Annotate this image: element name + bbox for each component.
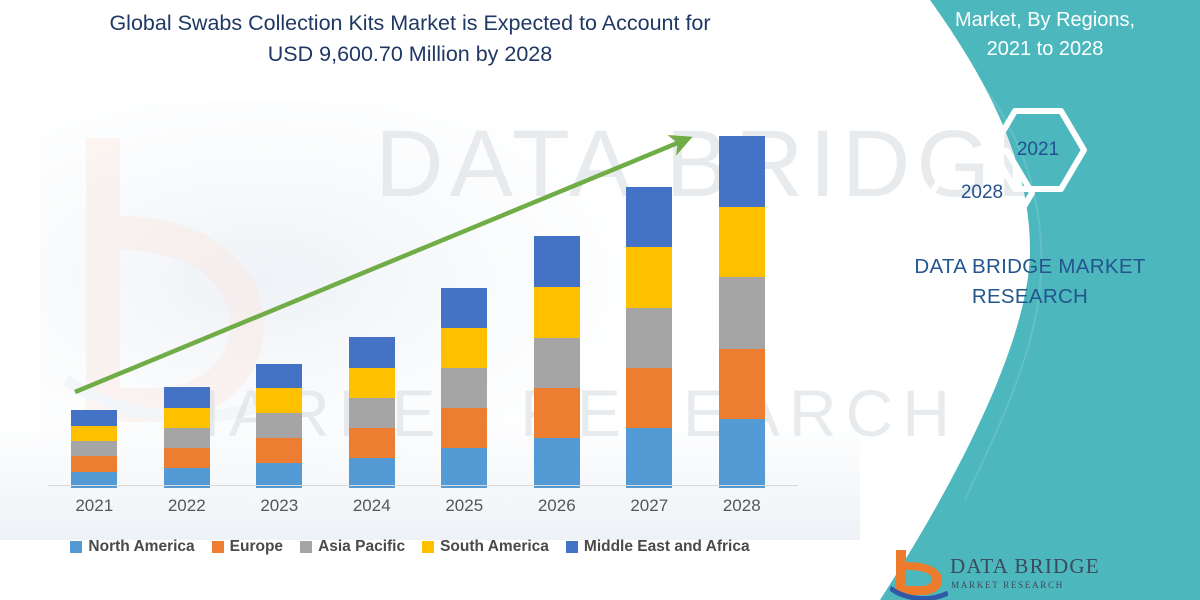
bar-segment [441,448,487,488]
legend-swatch-icon [212,541,224,553]
bar-segment [626,247,672,307]
bar-segment [719,136,765,207]
legend-item[interactable]: North America [70,538,194,556]
bar-segment [164,428,210,448]
x-axis-line [48,485,798,486]
stacked-bar-2028 [719,136,765,488]
stacked-bar-2021 [71,410,117,488]
hexagon-2028-label: 2028 [961,182,1003,204]
bar-segment [719,207,765,277]
chart-title-line1: Global Swabs Collection Kits Market is E… [30,8,790,39]
legend-label: South America [440,538,549,556]
bar-segment [164,408,210,428]
footer-logo: DATA BRIDGE MARKET RESEARCH [890,548,1190,600]
footer-logo-text: DATA BRIDGE [950,554,1100,579]
brand-line2: RESEARCH [870,282,1190,312]
footer-logo-subtext: MARKET RESEARCH [951,580,1064,590]
x-axis-label-2028: 2028 [697,496,787,516]
bar-segment [71,456,117,472]
legend-swatch-icon [422,541,434,553]
legend-item[interactable]: Europe [212,538,283,556]
bar-segment [441,408,487,448]
stacked-bar-2023 [256,364,302,488]
x-axis-label-2026: 2026 [512,496,602,516]
bar-segment [349,458,395,488]
bar-segment [534,338,580,388]
bar-segment [626,187,672,247]
stacked-bar-2026 [534,236,580,488]
bar-segment [256,438,302,463]
x-axis-label-2023: 2023 [234,496,324,516]
right-heading-line2: 2021 to 2028 [900,35,1190,64]
bar-segment [534,287,580,337]
plot-area [48,110,788,488]
legend-label: Europe [230,538,283,556]
x-axis-label-2022: 2022 [142,496,232,516]
bar-segment [71,410,117,426]
legend-label: Middle East and Africa [584,538,750,556]
stacked-bar-2024 [349,337,395,488]
brand-name: DATA BRIDGE MARKET RESEARCH [870,252,1190,312]
stacked-bar-2022 [164,387,210,488]
bar-segment [441,368,487,408]
stacked-bar-2025 [441,288,487,488]
x-axis-label-2024: 2024 [327,496,417,516]
legend-swatch-icon [300,541,312,553]
x-axis-label-2025: 2025 [419,496,509,516]
legend-label: Asia Pacific [318,538,405,556]
legend-swatch-icon [566,541,578,553]
bar-segment [164,387,210,408]
bar-segment [626,308,672,368]
bar-segment [719,419,765,488]
bar-segment [164,448,210,468]
brand-line1: DATA BRIDGE MARKET [870,252,1190,282]
x-axis-label-2021: 2021 [49,496,139,516]
x-axis-labels: 20212022202320242025202620272028 [48,496,798,522]
bar-segment [441,328,487,368]
bar-segment [534,388,580,438]
legend-item[interactable]: South America [422,538,549,556]
legend-item[interactable]: Asia Pacific [300,538,405,556]
bar-segment [349,368,395,398]
bar-segment [719,349,765,419]
bar-segment [349,337,395,368]
bar-segment [626,428,672,488]
bar-segment [534,438,580,488]
bar-segment [256,413,302,438]
bar-segment [256,388,302,413]
bar-segment [534,236,580,287]
bar-segment [71,426,117,441]
teal-panel-content: Market, By Regions, 2021 to 2028 2021 20… [780,0,1200,600]
bar-segment [349,428,395,458]
bar-segment [256,364,302,388]
x-axis-label-2027: 2027 [604,496,694,516]
data-bridge-logo-icon [890,548,948,600]
legend-swatch-icon [70,541,82,553]
chart-title: Global Swabs Collection Kits Market is E… [30,8,790,70]
right-panel-heading: Market, By Regions, 2021 to 2028 [900,6,1190,64]
chart-legend: North AmericaEuropeAsia PacificSouth Ame… [0,538,820,556]
legend-label: North America [88,538,194,556]
chart-title-line2: USD 9,600.70 Million by 2028 [30,39,790,70]
bar-segment [441,288,487,327]
stacked-bar-2027 [626,187,672,488]
bar-segment [626,368,672,428]
chart-panel: DATA BRIDGE MARKET RESEARCH Global Swabs… [0,0,860,600]
right-heading-line1: Market, By Regions, [900,6,1190,35]
bar-segment [349,398,395,428]
hexagon-2021-label: 2021 [1017,139,1059,161]
legend-item[interactable]: Middle East and Africa [566,538,750,556]
bar-segment [719,277,765,348]
chart-infographic: DATA BRIDGE MARKET RESEARCH Global Swabs… [0,0,1200,600]
bar-segment [71,441,117,456]
